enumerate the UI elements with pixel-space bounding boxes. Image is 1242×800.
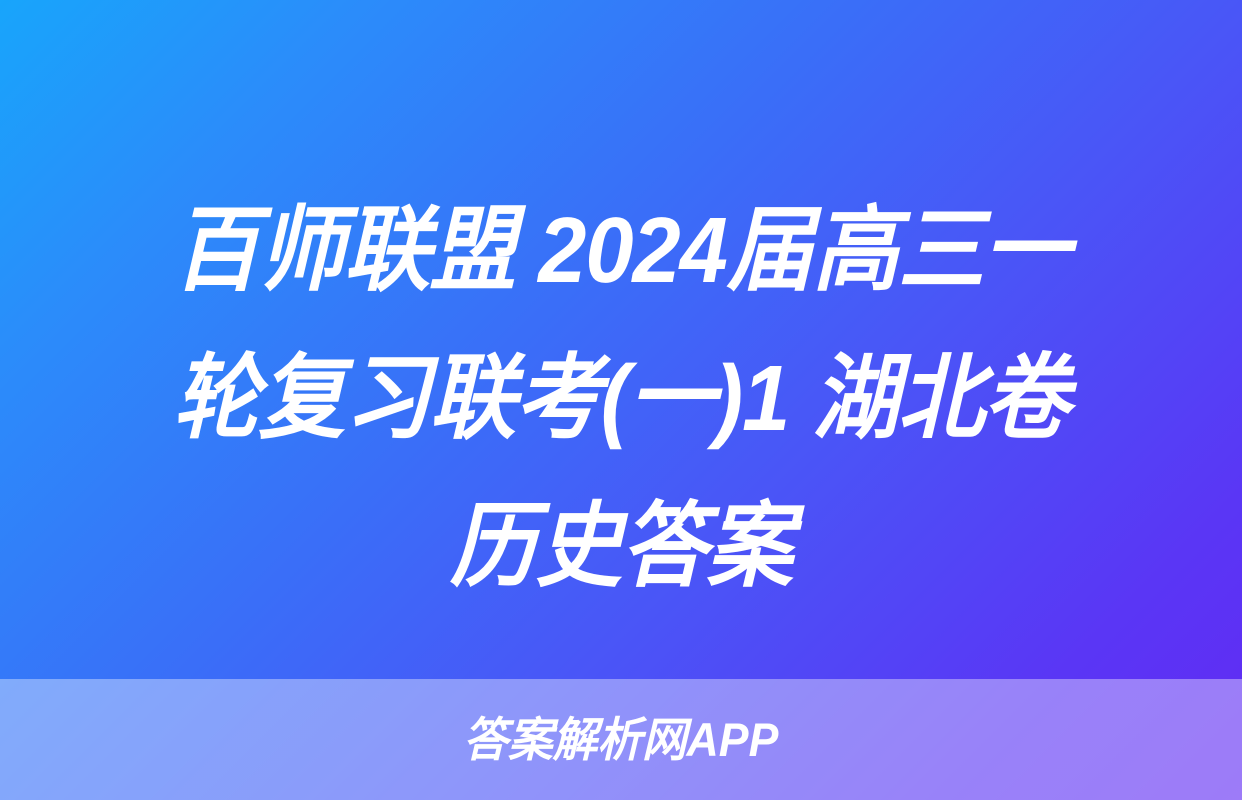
watermark-label: 答案解析网APP <box>463 716 778 763</box>
title-line-3: 历史答案 <box>100 472 1142 620</box>
title-line-2: 轮复习联考(一)1 湖北卷 <box>100 324 1142 472</box>
watermark-band: 答案解析网APP <box>0 679 1242 800</box>
page-title: 百师联盟 2024届高三一 轮复习联考(一)1 湖北卷 历史答案 <box>0 176 1242 620</box>
answer-cover-poster: 百师联盟 2024届高三一 轮复习联考(一)1 湖北卷 历史答案 答案解析网AP… <box>0 0 1242 800</box>
title-line-1: 百师联盟 2024届高三一 <box>100 176 1142 324</box>
